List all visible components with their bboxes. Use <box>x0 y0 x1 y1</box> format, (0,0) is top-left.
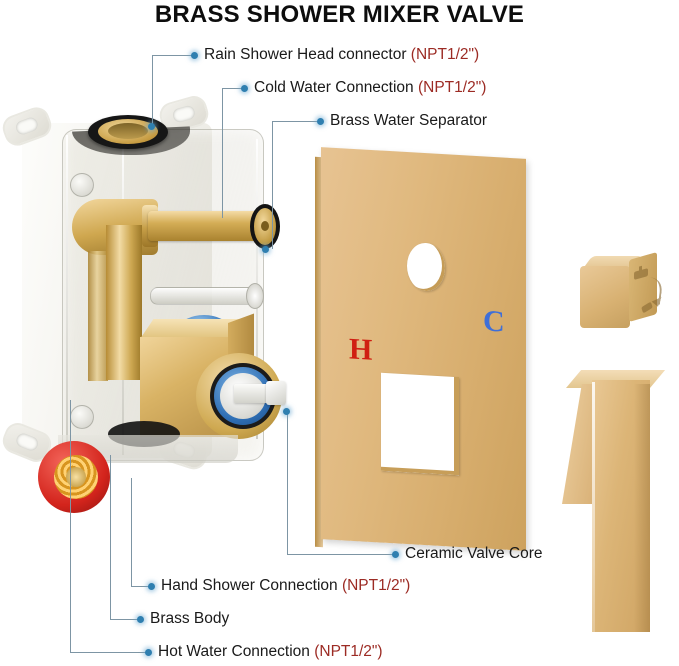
square-trim-faceplate: H C <box>305 145 540 550</box>
cartridge-stem <box>234 384 268 403</box>
callout-rain-shower-spec: (NPT1/2") <box>411 46 479 63</box>
leader-ceramic-core-horizontal <box>287 554 395 555</box>
diagram-canvas: BRASS SHOWER MIXER VALVE <box>0 0 679 666</box>
shroud-edge-left <box>66 135 68 455</box>
faceplate-square-hole <box>381 373 459 475</box>
lever-shading <box>634 384 650 632</box>
screw-boss-top <box>70 173 94 197</box>
leader-brass-body-vertical <box>110 455 111 619</box>
brass-water-separator-nipple <box>148 211 264 241</box>
leader-dot-ceramic-core-part <box>283 408 290 415</box>
leader-dot-rain-shower-part <box>148 123 155 130</box>
callout-ceramic-core-text: Ceramic Valve Core <box>405 545 543 562</box>
callout-brass-body-text: Brass Body <box>150 610 229 627</box>
callout-hot-water-connection: Hot Water Connection (NPT1/2") <box>158 643 383 661</box>
brass-riser <box>106 225 142 380</box>
leader-dot-rain-shower-label <box>191 52 198 59</box>
leader-brass-body-horizontal <box>110 619 140 620</box>
callout-ceramic-valve-core: Ceramic Valve Core <box>405 545 543 563</box>
callout-cold-water-connection: Cold Water Connection (NPT1/2") <box>254 79 486 97</box>
leader-hand-shower-vertical <box>131 478 132 586</box>
lever-handle <box>548 358 673 640</box>
leader-dot-brass-body-label <box>137 616 144 623</box>
cartridge-stem-tip <box>266 381 286 405</box>
leader-dot-hot-water-label <box>145 649 152 656</box>
callout-brass-body: Brass Body <box>150 610 229 628</box>
leader-ceramic-core-vertical <box>287 412 288 554</box>
callout-cold-water-text: Cold Water Connection <box>254 79 418 96</box>
top-inlet-bore <box>108 123 148 139</box>
leader-rain-shower-vertical <box>152 55 153 127</box>
hot-water-bore <box>66 467 86 487</box>
cross-pipe-cap <box>246 283 264 309</box>
leader-hot-water-vertical <box>70 400 71 652</box>
leader-dot-ceramic-core-label <box>392 551 399 558</box>
leader-dot-cold-water-label <box>241 85 248 92</box>
cross-pipe <box>150 287 258 305</box>
callout-hand-shower-text: Hand Shower Connection <box>161 577 342 594</box>
brass-body-top <box>140 319 241 339</box>
hot-marking: H <box>349 332 372 367</box>
callout-hand-shower-spec: (NPT1/2") <box>342 577 410 594</box>
lever-highlight <box>592 382 595 632</box>
callout-hot-water-text: Hot Water Connection <box>158 643 314 660</box>
brass-riser-rear <box>88 251 108 381</box>
callout-separator-text: Brass Water Separator <box>330 112 487 129</box>
leader-cold-water-vertical <box>222 88 223 218</box>
leader-rain-shower-horizontal <box>152 55 194 56</box>
leader-separator-horizontal <box>272 121 320 122</box>
leader-dot-separator-part <box>262 246 269 253</box>
diverter-front-face <box>580 266 630 328</box>
leader-dot-separator-label <box>317 118 324 125</box>
page-title: BRASS SHOWER MIXER VALVE <box>0 0 679 30</box>
screw-boss-bottom <box>70 405 94 429</box>
leader-dot-hand-shower-label <box>148 583 155 590</box>
diverter-cube-knob <box>572 252 662 340</box>
callout-rain-shower-head-connector: Rain Shower Head connector (NPT1/2") <box>204 46 479 64</box>
rough-in-valve-body <box>0 105 300 475</box>
callout-hand-shower-connection: Hand Shower Connection (NPT1/2") <box>161 577 410 595</box>
callout-brass-water-separator: Brass Water Separator <box>330 112 487 130</box>
cold-marking: C <box>483 304 505 339</box>
lever-shoulder <box>562 384 594 504</box>
leader-hot-water-horizontal <box>70 652 148 653</box>
leader-separator-vertical <box>272 121 273 249</box>
callout-hot-water-spec: (NPT1/2") <box>314 643 382 660</box>
callout-rain-shower-text: Rain Shower Head connector <box>204 46 411 63</box>
callout-cold-water-spec: (NPT1/2") <box>418 79 486 96</box>
